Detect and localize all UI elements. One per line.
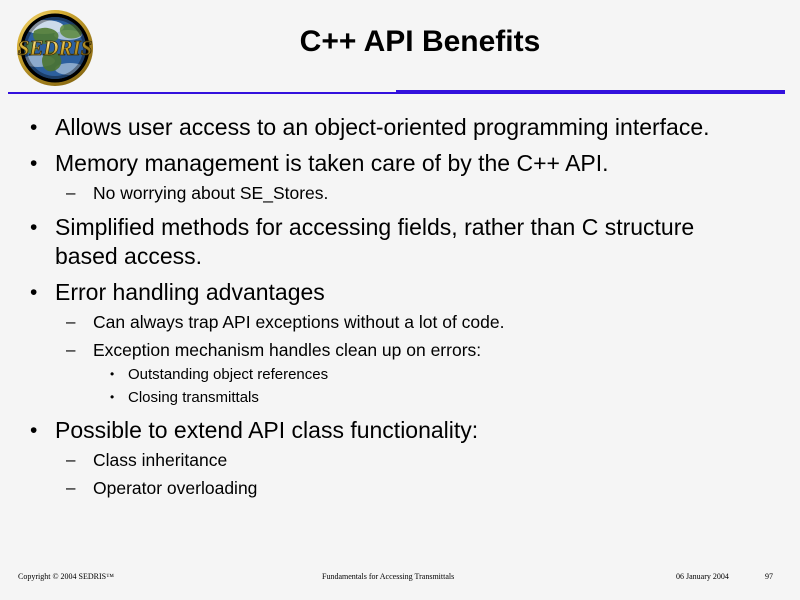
bullet-marker-icon: • <box>30 149 37 178</box>
bullet-marker-icon: • <box>30 278 37 307</box>
page-title: C++ API Benefits <box>120 24 720 60</box>
bullet-item-level-2: –Can always trap API exceptions without … <box>0 309 800 335</box>
bullet-text: Outstanding object references <box>128 363 740 386</box>
bullet-marker-icon: • <box>30 213 37 242</box>
bullet-item-level-3: •Closing transmittals <box>0 386 800 409</box>
sedris-logo: SEDRIS <box>8 9 102 87</box>
bullet-marker-icon: • <box>30 113 37 142</box>
title-divider-left <box>8 92 396 94</box>
title-divider-right <box>396 90 785 94</box>
bullet-marker-icon: – <box>66 309 75 335</box>
footer-page-number: 97 <box>765 572 773 581</box>
bullet-item-level-1: •Possible to extend API class functional… <box>0 416 800 445</box>
bullet-marker-icon: – <box>66 180 75 206</box>
bullet-marker-icon: • <box>110 386 114 409</box>
bullet-text: Exception mechanism handles clean up on … <box>93 337 740 363</box>
bullet-text: Memory management is taken care of by th… <box>55 149 740 178</box>
bullet-text: Simplified methods for accessing fields,… <box>55 213 740 271</box>
bullet-item-level-1: •Memory management is taken care of by t… <box>0 149 800 178</box>
footer-center-title: Fundamentals for Accessing Transmittals <box>322 572 454 581</box>
svg-text:SEDRIS: SEDRIS <box>18 36 93 60</box>
bullet-text: Error handling advantages <box>55 278 740 307</box>
bullet-text: Operator overloading <box>93 475 740 501</box>
footer-copyright: Copyright © 2004 SEDRIS™ <box>18 572 114 581</box>
bullet-marker-icon: – <box>66 475 75 501</box>
bullet-item-level-1: •Simplified methods for accessing fields… <box>0 213 800 271</box>
bullet-text: Class inheritance <box>93 447 740 473</box>
bullet-item-level-2: –Operator overloading <box>0 475 800 501</box>
bullet-item-level-2: –No worrying about SE_Stores. <box>0 180 800 206</box>
footer-date: 06 January 2004 <box>676 572 729 581</box>
bullet-text: No worrying about SE_Stores. <box>93 180 740 206</box>
bullet-text: Can always trap API exceptions without a… <box>93 309 740 335</box>
bullet-item-level-2: –Class inheritance <box>0 447 800 473</box>
bullet-marker-icon: • <box>30 416 37 445</box>
bullet-marker-icon: – <box>66 337 75 363</box>
bullet-item-level-3: •Outstanding object references <box>0 363 800 386</box>
bullet-item-level-2: –Exception mechanism handles clean up on… <box>0 337 800 363</box>
bullet-text: Closing transmittals <box>128 386 740 409</box>
bullet-item-level-1: •Error handling advantages <box>0 278 800 307</box>
bullet-marker-icon: • <box>110 363 114 386</box>
bullet-text: Possible to extend API class functionali… <box>55 416 740 445</box>
bullet-text: Allows user access to an object-oriented… <box>55 113 740 142</box>
slide-body: •Allows user access to an object-oriente… <box>0 106 800 501</box>
slide: SEDRIS C++ API Benefits •Allows user acc… <box>0 0 800 600</box>
bullet-item-level-1: •Allows user access to an object-oriente… <box>0 113 800 142</box>
bullet-marker-icon: – <box>66 447 75 473</box>
